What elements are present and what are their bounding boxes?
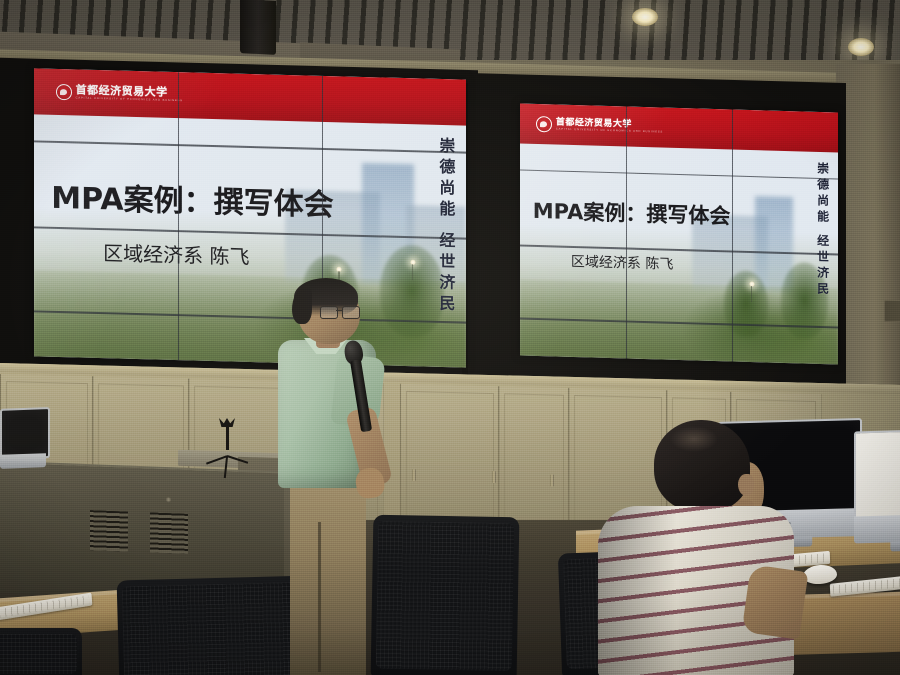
university-crest-icon	[56, 84, 72, 100]
cabinet-handle[interactable]	[550, 474, 554, 486]
office-chair[interactable]	[0, 628, 82, 675]
imac-chin	[854, 514, 900, 544]
slide-subtitle: 区域经济系 陈飞	[571, 251, 673, 274]
slide-title: MPA案例：撰写体会	[51, 172, 333, 223]
microphone-pole	[226, 424, 229, 450]
slide-title: MPA案例：撰写体会	[533, 195, 731, 231]
trouser-seam	[318, 522, 321, 672]
university-crest-icon	[536, 116, 552, 132]
video-wall-right[interactable]: 首都经济贸易大学 CAPITAL UNIVERSITY OF ECONOMICS…	[520, 104, 838, 365]
imac-right[interactable]	[854, 429, 900, 544]
wall-access-plate	[884, 300, 900, 322]
ceiling-duct	[240, 0, 276, 55]
university-name-en: CAPITAL UNIVERSITY OF ECONOMICS AND BUSI…	[76, 97, 183, 102]
ceiling-light-icon	[632, 8, 658, 26]
attendee-arm	[742, 564, 809, 639]
rack-vent-grille	[90, 510, 128, 551]
presenter-trousers	[290, 472, 366, 675]
attendee-hair-highlight	[670, 426, 718, 452]
slide-motto: 崇德尚能 经世济民	[815, 162, 832, 299]
rack-lock-icon[interactable]	[166, 497, 171, 502]
university-logo: 首都经济贸易大学 CAPITAL UNIVERSITY OF ECONOMICS…	[520, 116, 663, 136]
monitor-far-left[interactable]	[0, 407, 46, 469]
cabinet-handle[interactable]	[492, 471, 496, 483]
presenter	[272, 282, 404, 675]
lecture-hall-photo: 首都经济贸易大学 CAPITAL UNIVERSITY OF ECONOMICS…	[0, 0, 900, 675]
rack-vent-grille	[150, 512, 188, 553]
campus-tree	[724, 271, 769, 338]
cabinet-handle[interactable]	[412, 469, 416, 481]
attendee-ear	[738, 474, 754, 496]
monitor-screen	[0, 407, 50, 460]
university-logo: 首都经济贸易大学 CAPITAL UNIVERSITY OF ECONOMICS…	[34, 83, 183, 103]
slide-motto: 崇德尚能 经世济民	[433, 136, 457, 315]
ceiling-light-icon	[848, 38, 874, 56]
desktop-microphone-stand[interactable]	[205, 418, 251, 458]
imac-screen	[854, 428, 900, 522]
eyeglasses-icon	[320, 306, 360, 318]
slide-subtitle: 区域经济系 陈飞	[103, 237, 249, 270]
university-name-en: CAPITAL UNIVERSITY OF ECONOMICS AND BUSI…	[556, 129, 663, 135]
monitor-chin	[0, 453, 46, 469]
presenter-hair-side	[292, 288, 312, 324]
imac-stand	[890, 541, 900, 552]
seated-attendee	[596, 418, 796, 675]
presentation-slide: 首都经济贸易大学 CAPITAL UNIVERSITY OF ECONOMICS…	[520, 104, 838, 365]
